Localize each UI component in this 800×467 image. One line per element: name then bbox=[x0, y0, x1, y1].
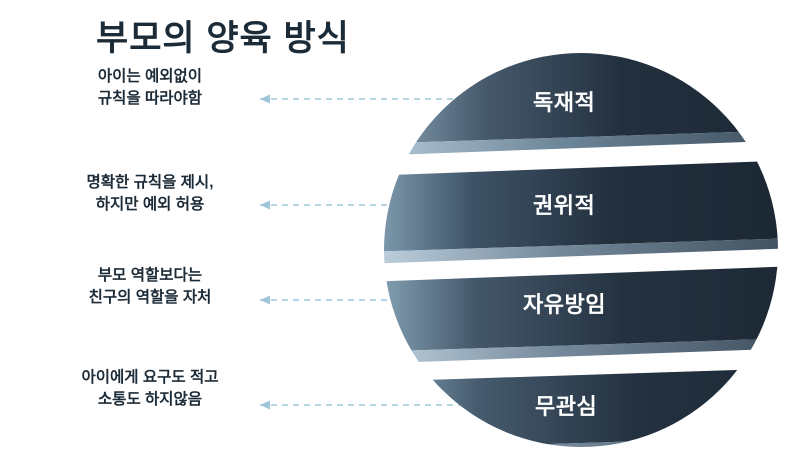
description-line-1: 명확한 규칙을 제시, bbox=[55, 172, 245, 194]
description-line-1: 부모 역할보다는 bbox=[60, 265, 240, 287]
slab-label-neglectful: 무관심 bbox=[535, 389, 597, 421]
description-line-2: 규칙을 따라야함 bbox=[60, 88, 240, 110]
description-line-1: 아이는 예외없이 bbox=[60, 66, 240, 88]
description-label-neglectful: 아이에게 요구도 적고 소통도 하지않음 bbox=[52, 367, 248, 412]
slab-label-authoritarian: 독재적 bbox=[533, 85, 595, 117]
page-title: 부모의 양육 방식 bbox=[96, 10, 350, 61]
slab-label-authoritative: 권위적 bbox=[533, 188, 595, 220]
description-line-2: 친구의 역할을 자처 bbox=[60, 287, 240, 309]
description-label-authoritative: 명확한 규칙을 제시, 하지만 예외 허용 bbox=[55, 172, 245, 217]
description-label-permissive: 부모 역할보다는 친구의 역할을 자처 bbox=[60, 265, 240, 310]
description-line-2: 소통도 하지않음 bbox=[52, 389, 248, 411]
slab-label-permissive: 자유방임 bbox=[523, 287, 606, 319]
parenting-styles-diagram: 독재적 권위적 자유방임 무관심 bbox=[383, 52, 779, 448]
description-label-authoritarian: 아이는 예외없이 규칙을 따라야함 bbox=[60, 66, 240, 111]
description-line-2: 하지만 예외 허용 bbox=[55, 194, 245, 216]
description-line-1: 아이에게 요구도 적고 bbox=[52, 367, 248, 389]
